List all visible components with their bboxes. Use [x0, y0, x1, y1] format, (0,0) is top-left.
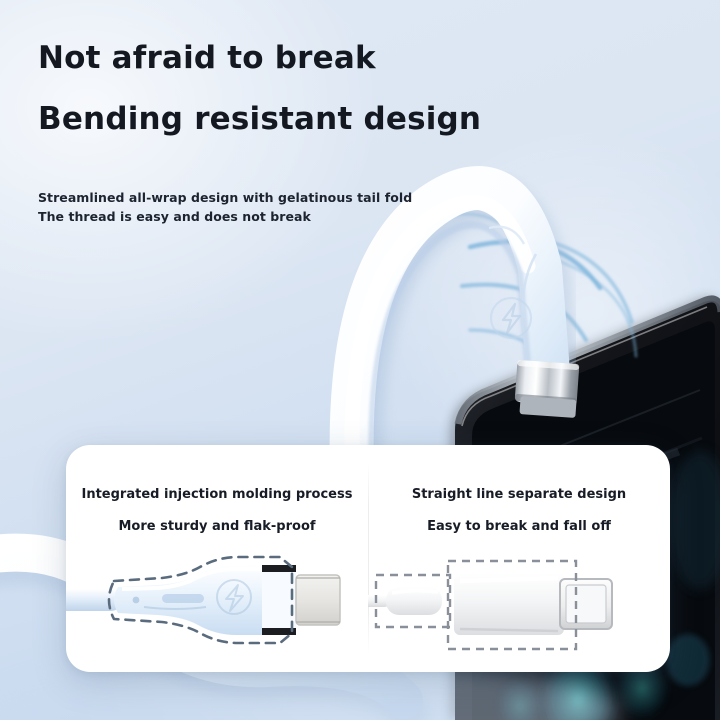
subheading-block: Streamlined all-wrap design with gelatin…: [38, 188, 412, 227]
comparison-pane-separate: Straight line separate design Easy to br…: [368, 445, 670, 672]
art-two-piece-separate-connector: [368, 545, 670, 670]
headline-line-1: Not afraid to break: [38, 42, 598, 75]
headline-line-2: Bending resistant design: [38, 103, 598, 136]
subheading-line-2: The thread is easy and does not break: [38, 207, 412, 226]
art-one-piece-molded-connector: [66, 545, 368, 670]
comparison-card: Integrated injection molding process Mor…: [66, 445, 670, 672]
pane-title-integrated: Integrated injection molding process: [66, 487, 368, 502]
subheading-line-1: Streamlined all-wrap design with gelatin…: [38, 188, 412, 207]
pane-subtitle-separate: Easy to break and fall off: [368, 519, 670, 534]
pane-subtitle-integrated: More sturdy and flak-proof: [66, 519, 368, 534]
comparison-pane-integrated: Integrated injection molding process Mor…: [66, 445, 368, 672]
pane-title-separate: Straight line separate design: [368, 487, 670, 502]
headline-block: Not afraid to break Bending resistant de…: [38, 42, 598, 135]
product-marketing-image: Not afraid to break Bending resistant de…: [0, 0, 720, 720]
